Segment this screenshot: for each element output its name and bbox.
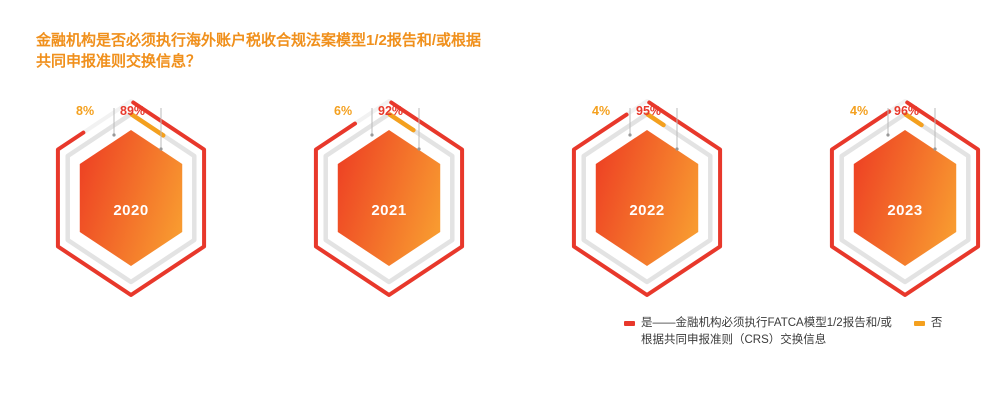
hexagon-gauge-2023[interactable]: 2023 <box>800 98 1000 303</box>
leader-dot-yes-2021 <box>417 147 420 150</box>
hexagon-rings-2023 <box>800 98 1000 303</box>
hexagon-rings-2021 <box>284 98 494 303</box>
percent-label-no-2021: 6% <box>334 104 352 118</box>
legend-item-no[interactable]: 否 <box>914 315 943 332</box>
percent-label-yes-2020: 89% <box>120 104 145 118</box>
chart-legend: 是——金融机构必须执行FATCA模型1/2报告和/或 根据共同申报准则（CRS）… <box>624 315 942 349</box>
percent-label-yes-2023: 96% <box>894 104 919 118</box>
leader-dot-yes-2020 <box>159 147 162 150</box>
legend-swatch-orange-icon <box>914 321 925 326</box>
percent-label-no-2020: 8% <box>76 104 94 118</box>
leader-dot-no-2022 <box>628 133 631 136</box>
hexagon-rings-2020 <box>26 98 236 303</box>
leader-dot-no-2020 <box>112 133 115 136</box>
percent-label-no-2023: 4% <box>850 104 868 118</box>
legend-label-yes: 是——金融机构必须执行FATCA模型1/2报告和/或 根据共同申报准则（CRS）… <box>641 315 892 349</box>
leader-dot-no-2021 <box>370 133 373 136</box>
hexagon-rings-2022 <box>542 98 752 303</box>
leader-dot-no-2023 <box>886 133 889 136</box>
hexagon-gauge-2020[interactable]: 2020 <box>26 98 236 303</box>
legend-swatch-red-icon <box>624 321 635 326</box>
hexagon-gauge-2021[interactable]: 2021 <box>284 98 494 303</box>
leader-dot-yes-2022 <box>675 147 678 150</box>
legend-item-yes[interactable]: 是——金融机构必须执行FATCA模型1/2报告和/或 根据共同申报准则（CRS）… <box>624 315 892 349</box>
percent-label-yes-2021: 92% <box>378 104 403 118</box>
legend-label-no: 否 <box>931 315 943 332</box>
percent-label-yes-2022: 95% <box>636 104 661 118</box>
hexagon-gauge-2022[interactable]: 2022 <box>542 98 752 303</box>
page-title: 金融机构是否必须执行海外账户税收合规法案模型1/2报告和/或根据 共同申报准则交… <box>36 30 556 72</box>
percent-label-no-2022: 4% <box>592 104 610 118</box>
leader-dot-yes-2023 <box>933 147 936 150</box>
